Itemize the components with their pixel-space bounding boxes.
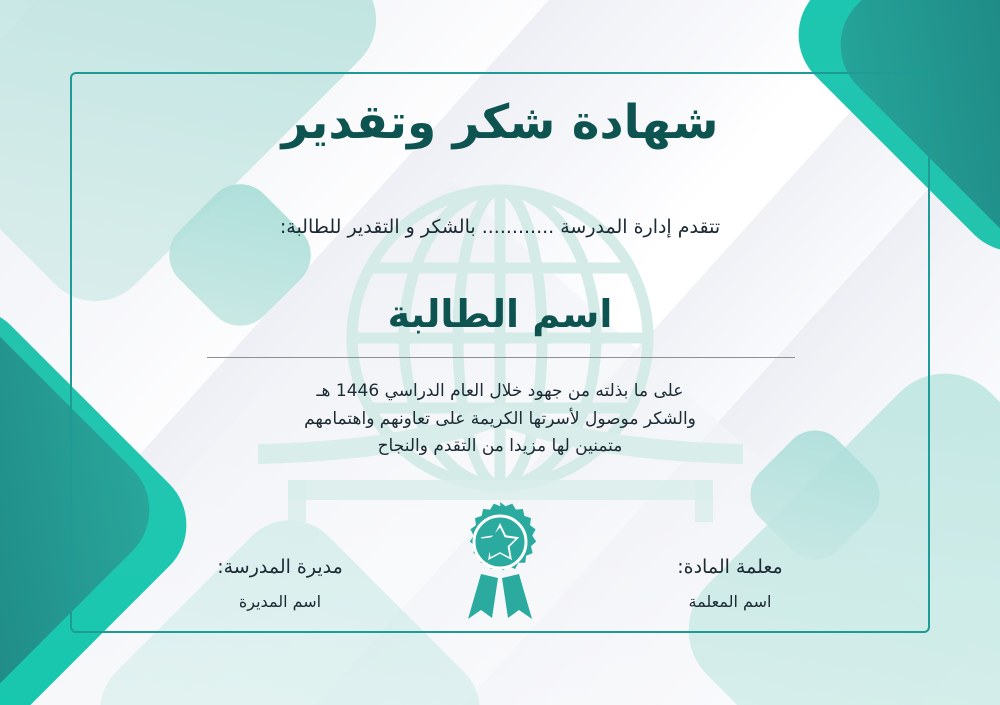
award-medal-ribbon-icon <box>448 500 552 620</box>
certificate-subtitle: تتقدم إدارة المدرسة ............ بالشكر … <box>0 216 1000 238</box>
body-line-2: والشكر موصول لأسرتها الكريمة على تعاونهم… <box>0 406 1000 434</box>
recipient-name-field[interactable]: اسم الطالبة <box>0 292 1000 336</box>
signature-block-principal: مديرة المدرسة: اسم المديرة <box>150 556 410 611</box>
certificate-title: شهادة شكر وتقدير <box>0 96 1000 150</box>
certificate-body-text: على ما بذلته من جهود خلال العام الدراسي … <box>0 378 1000 461</box>
signature-block-teacher: معلمة المادة: اسم المعلمة <box>600 556 860 611</box>
principal-name-field[interactable]: اسم المديرة <box>150 592 410 611</box>
body-line-1: على ما بذلته من جهود خلال العام الدراسي … <box>0 378 1000 406</box>
certificate-canvas: شهادة شكر وتقدير تتقدم إدارة المدرسة ...… <box>0 0 1000 705</box>
principal-role-label: مديرة المدرسة: <box>150 556 410 578</box>
teacher-name-field[interactable]: اسم المعلمة <box>600 592 860 611</box>
body-line-3: متمنين لها مزيدا من التقدم والنجاح <box>0 433 1000 461</box>
recipient-underline-rule <box>207 357 795 358</box>
teacher-role-label: معلمة المادة: <box>600 556 860 578</box>
